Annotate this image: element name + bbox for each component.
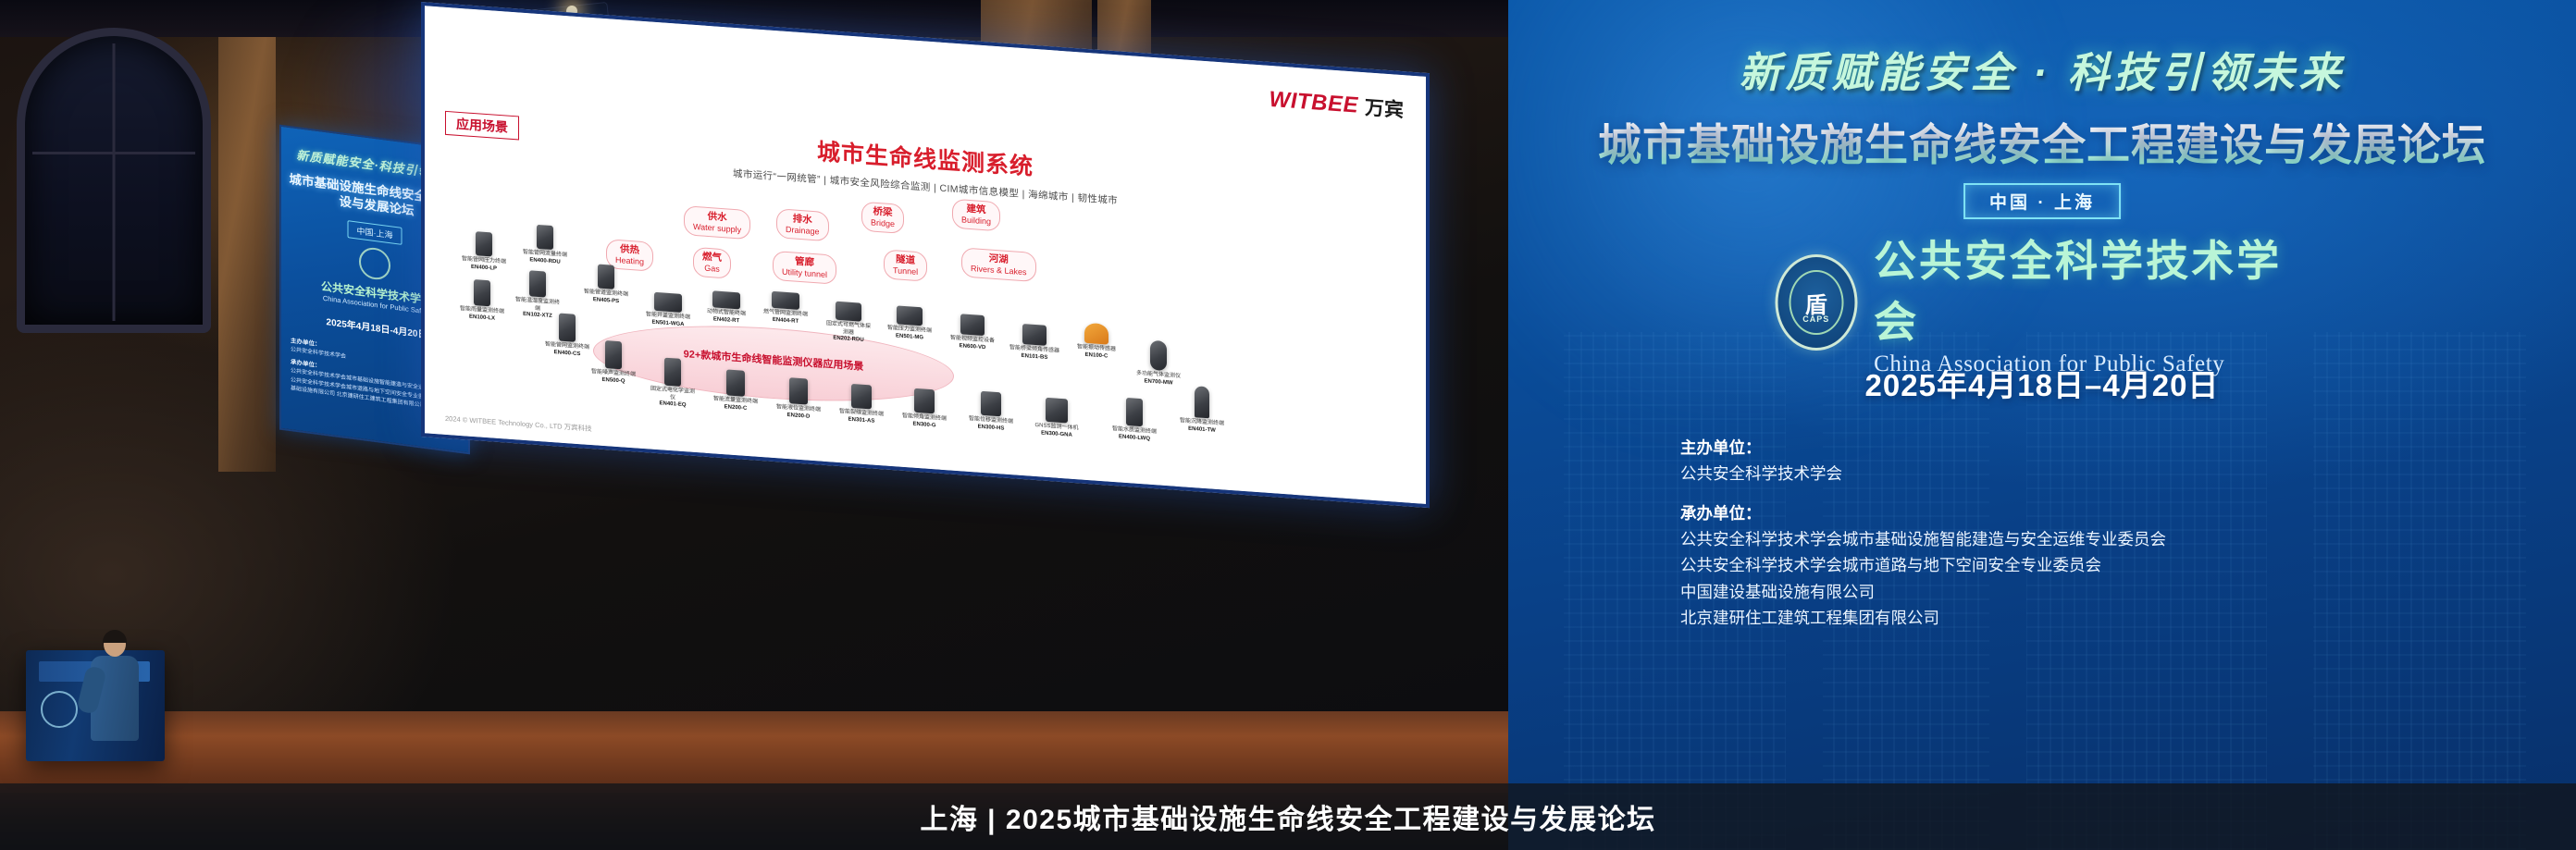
device-icon (664, 358, 681, 387)
panel-association-cn: 公共安全科学技术学会 (1874, 228, 2309, 350)
category-bubble-rivers-lakes: 河湖 Rivers & Lakes (961, 247, 1036, 282)
category-en: Heating (615, 255, 644, 266)
presentation-screen: WITBEE 万宾 应用场景 城市生命线监测系统 城市运行“一网统管” | 城市… (421, 2, 1430, 508)
device-item: 智能管网压力终端 EN400-LP (460, 230, 508, 272)
device-icon (981, 391, 1001, 417)
device-item: 智能位移监测终端 EN300-HS (967, 390, 1015, 432)
panel-organizers: 主办单位： 公共安全科学技术学会 承办单位： 公共安全科学技术学会城市基础设施智… (1680, 435, 2550, 631)
organizer-item: 北京建研住工建筑工程集团有限公司 (1680, 605, 2550, 631)
device-item: GNSS监测一体机 EN300-GNA (1032, 397, 1082, 438)
device-icon (1195, 386, 1209, 418)
caps-emblem-abbr: CAPS (1778, 314, 1855, 324)
device-icon (1046, 398, 1068, 424)
device-item: 智能温湿度监测终端 EN102-XTZ (514, 269, 562, 320)
witbee-logo-cn: 万宾 (1365, 92, 1404, 123)
device-icon (772, 291, 799, 310)
device-item: 动物式智能终端 EN402-RT (702, 290, 750, 325)
side-led-emblem-icon (359, 246, 390, 281)
device-item: 智能井盖监测终端 EN501-WGA (643, 291, 693, 327)
device-icon (914, 388, 935, 414)
device-icon (1084, 323, 1108, 345)
device-item: 智能沉降监测终端 EN401-TW (1176, 385, 1228, 434)
device-icon (1126, 398, 1143, 426)
organizer-heading: 承办单位： (1680, 500, 2550, 526)
device-item: 智能管道监测终端 EN405-PS (582, 263, 630, 304)
device-icon (605, 340, 622, 369)
category-en: Drainage (786, 225, 820, 237)
device-item: 智能液位监测终端 EN200-D (774, 376, 823, 420)
category-bubble-gas: 燃气 Gas (693, 247, 731, 279)
device-item: 智能倾角监测终端 EN300-G (900, 388, 948, 429)
device-item: 智能流量监测终端 EN200-C (712, 368, 760, 412)
conference-hall-photo: 新质赋能安全·科技引领未来 城市基础设施生命线安全工程建设与发展论坛 中国·上海… (0, 0, 1508, 850)
device-icon (789, 377, 808, 404)
device-item: 智能桥梁倾角传感器 EN101-BS (1009, 323, 1059, 361)
caption-text: 上海 | 2025城市基础设施生命线安全工程建设与发展论坛 (920, 796, 1655, 837)
witbee-logo: WITBEE 万宾 (1269, 86, 1404, 123)
device-item: 燃气管网监测终端 EN404-RT (762, 290, 810, 325)
category-bubble-tunnel: 隧道 Tunnel (884, 249, 927, 281)
lectern-emblem-icon (41, 691, 78, 728)
category-bubble-building: 建筑 Building (952, 199, 1000, 232)
right-led-panel: 新质赋能安全 · 科技引领未来 城市基础设施生命线安全工程建设与发展论坛 中国 … (1508, 0, 2576, 850)
host-item: 公共安全科学技术学会 (1680, 461, 2550, 487)
device-item: 固定式可燃气体探测器 EN202-RDU (824, 301, 873, 344)
device-item: 智能振动传感器 EN100-C (1072, 322, 1121, 360)
device-icon (654, 292, 682, 313)
host-heading: 主办单位： (1680, 435, 2550, 461)
caption-bar: 上海 | 2025城市基础设施生命线安全工程建设与发展论坛 (0, 783, 2576, 850)
side-led-location-badge: 中国·上海 (348, 220, 402, 245)
panel-forum-title: 城市基础设施生命线安全工程建设与发展论坛 (1508, 109, 2576, 173)
slide: WITBEE 万宾 应用场景 城市生命线监测系统 城市运行“一网统管” | 城市… (425, 6, 1426, 504)
device-icon (897, 305, 923, 326)
organizer-item: 公共安全科学技术学会城市道路与地下空间安全专业委员会 (1680, 552, 2550, 578)
panel-location-badge: 中国 · 上海 (1963, 183, 2121, 219)
device-icon (1150, 340, 1167, 371)
device-icon (537, 225, 553, 250)
category-en: Utility tunnel (782, 266, 827, 279)
speaker-person (85, 632, 144, 741)
panel-association-row: 盾 CAPS 公共安全科学技术学会 China Association for … (1776, 228, 2310, 377)
device-item: 智能视频监控设备 EN600-VD (948, 313, 997, 351)
device-icon (474, 279, 490, 306)
category-bubble-drainage: 排水 Drainage (776, 208, 829, 241)
category-en: Bridge (871, 217, 895, 228)
device-icon (960, 314, 985, 336)
panel-association-names: 公共安全科学技术学会 China Association for Public … (1874, 228, 2309, 377)
arched-window (17, 28, 211, 333)
caps-emblem-icon: 盾 CAPS (1776, 254, 1858, 351)
witbee-logo-en: WITBEE (1269, 87, 1358, 119)
device-item: 智能管网流量终端 EN400-RDU (521, 224, 569, 265)
category-en: Tunnel (893, 265, 918, 277)
device-item: 智能噪声监测终端 EN500-Q (589, 339, 638, 385)
device-item: 智能雨量监测终端 EN100-LX (458, 278, 506, 322)
organizer-item: 公共安全科学技术学会城市基础设施智能建造与安全运维专业委员会 (1680, 526, 2550, 552)
organizer-item: 中国建设基础设施有限公司 (1680, 579, 2550, 605)
device-icon (726, 369, 745, 396)
category-bubble-utility-tunnel: 管廊 Utility tunnel (773, 251, 836, 285)
device-icon (476, 231, 492, 256)
category-en: Gas (702, 263, 722, 274)
device-item: 智能压力监测终端 EN501-MG (885, 305, 934, 341)
slide-footer: 2024 © WITBEE Technology Co., LTD 万宾科技 (445, 413, 592, 434)
device-item: 固定式电化学监测仪 EN401-EQ (649, 356, 697, 409)
category-en: Building (961, 215, 991, 226)
device-icon (1022, 324, 1046, 346)
panel-calligraphy-slogan: 新质赋能安全 · 科技引领未来 (1508, 39, 2576, 99)
person-hair (103, 630, 127, 643)
category-bubble-water-supply: 供水 Water supply (684, 205, 750, 240)
device-icon (529, 270, 546, 297)
panel-event-date: 2025年4月18日–4月20日 (1508, 361, 2576, 405)
wall-panel (218, 37, 276, 472)
device-icon (851, 384, 872, 410)
device-icon (836, 302, 861, 322)
device-item: 多功能气体监测仪 EN700-MW (1133, 339, 1183, 387)
device-icon (712, 290, 740, 309)
device-icon (598, 265, 614, 289)
device-item: 智能水质监测终端 EN400-LWQ (1109, 397, 1159, 442)
category-bubble-bridge: 桥梁 Bridge (861, 202, 904, 234)
device-item: 智能裂缝监测终端 EN301-AS (837, 383, 885, 425)
screenshot-stage: 新质赋能安全·科技引领未来 城市基础设施生命线安全工程建设与发展论坛 中国·上海… (0, 0, 2576, 850)
